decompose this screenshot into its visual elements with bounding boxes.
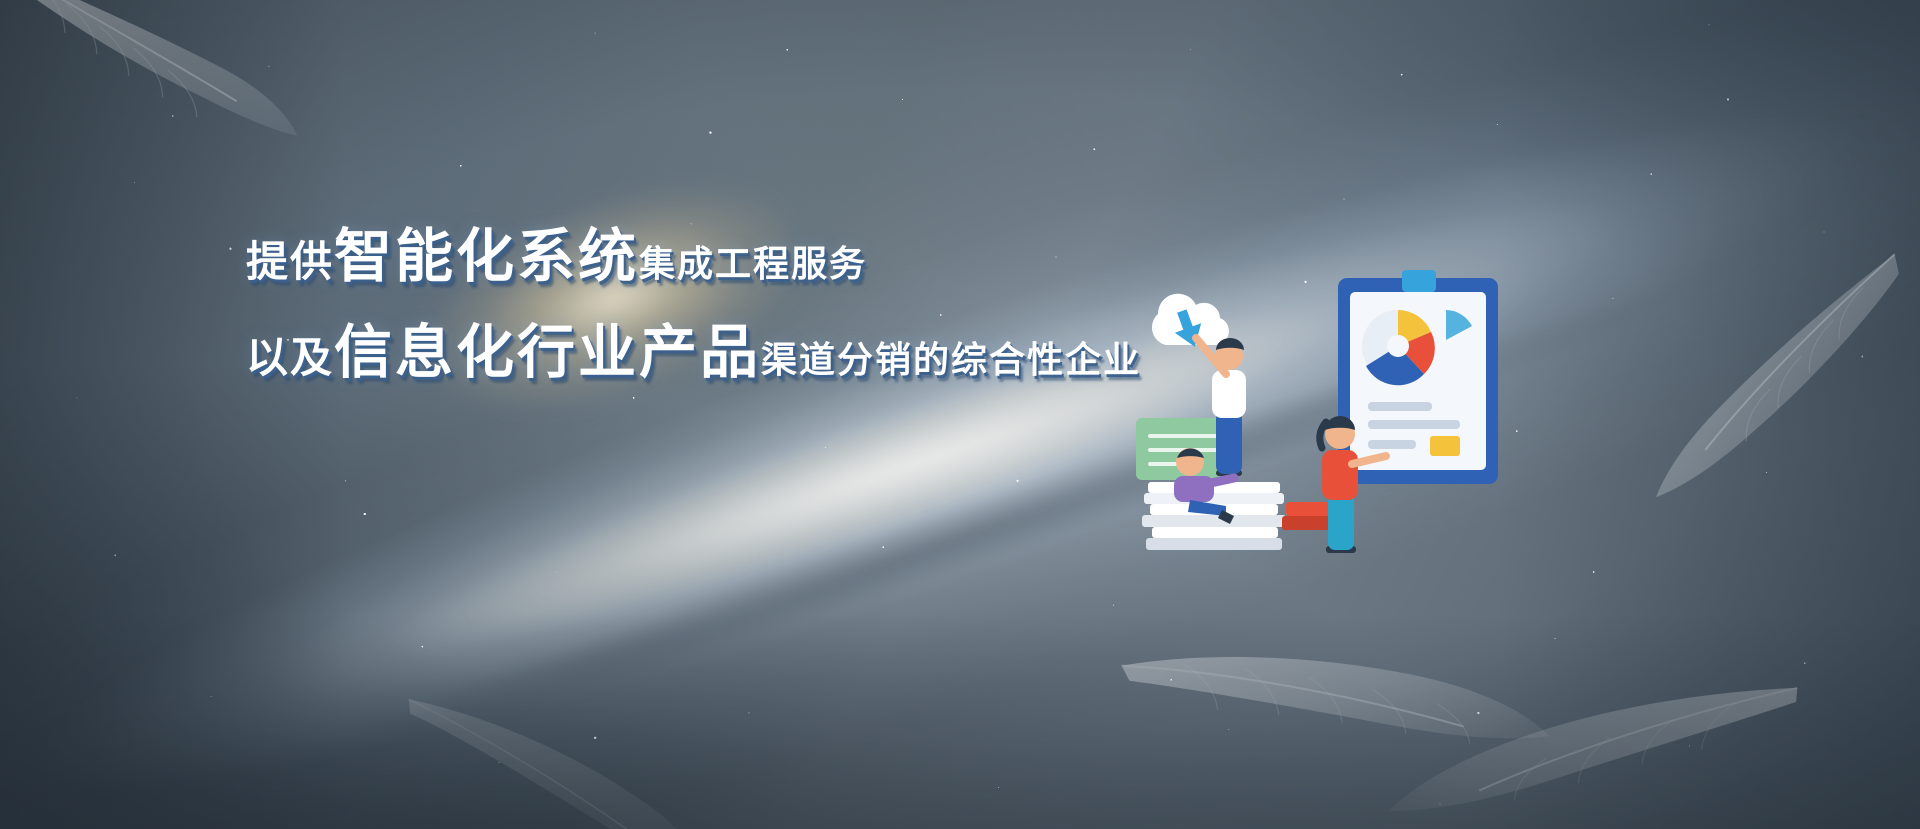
headline-line2-seg1: 以及	[246, 334, 334, 381]
headline-line1-seg2: 智能化系统	[334, 224, 639, 289]
pie-chart-icon	[1362, 310, 1435, 385]
feather-icon-top-left	[0, 0, 319, 176]
business-analytics-illustration	[1130, 270, 1550, 600]
headline-line2-seg3: 渠道分销的综合性企业	[761, 339, 1141, 380]
headline-line2-seg2: 信息化行业产品	[334, 320, 761, 385]
headline-line-2: 以及信息化行业产品渠道分销的综合性企业	[246, 324, 1266, 382]
headline-line-1: 提供智能化系统集成工程服务	[246, 228, 1266, 286]
book-stack-icon	[1142, 482, 1332, 550]
feather-icon-bottom-right	[1372, 622, 1808, 829]
hero-banner: 提供智能化系统集成工程服务 以及信息化行业产品渠道分销的综合性企业	[0, 0, 1920, 829]
headline-line1-seg3: 集成工程服务	[639, 243, 867, 284]
hero-headline: 提供智能化系统集成工程服务 以及信息化行业产品渠道分销的综合性企业	[246, 228, 1266, 382]
headline-line1-seg1: 提供	[246, 238, 334, 285]
cloud-upload-icon	[1152, 294, 1229, 352]
clipboard-chart-icon	[1338, 270, 1498, 484]
